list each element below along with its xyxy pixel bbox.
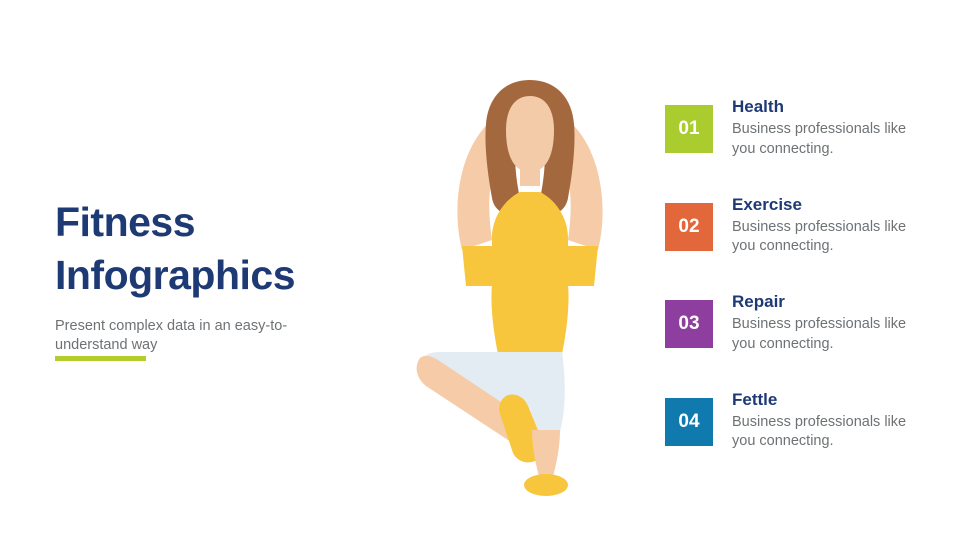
list-item-description: Business professionals like you connecti…: [732, 315, 932, 354]
list-item-title: Health: [732, 96, 932, 118]
face-shape: [506, 96, 554, 172]
list-item-text: Exercise Business professionals like you…: [732, 194, 932, 257]
page-title-line-2: Infographics: [55, 249, 355, 302]
list-item-description: Business professionals like you connecti…: [732, 413, 932, 452]
page-subtitle: Present complex data in an easy-to-under…: [55, 317, 313, 355]
list-item-number-badge: 04: [665, 398, 713, 446]
neck-shape: [520, 164, 540, 186]
list-item-text: Health Business professionals like you c…: [732, 96, 932, 159]
list-item-description: Business professionals like you connecti…: [732, 218, 932, 257]
top-shirt-shape: [491, 192, 568, 354]
yoga-figure-svg: [400, 40, 660, 510]
feature-list: 01 Health Business professionals like yo…: [665, 96, 955, 486]
page-title-line-1: Fitness: [55, 196, 355, 249]
list-item[interactable]: 01 Health Business professionals like yo…: [665, 96, 955, 194]
list-item-text: Fettle Business professionals like you c…: [732, 389, 932, 452]
left-sleeve-shape: [462, 246, 494, 286]
list-item-title: Exercise: [732, 194, 932, 216]
list-item-description: Business professionals like you connecti…: [732, 120, 932, 159]
list-item[interactable]: 02 Exercise Business professionals like …: [665, 194, 955, 292]
standing-foot-shoe-shape: [524, 474, 568, 496]
yoga-figure-illustration: [400, 40, 660, 510]
list-item-number-badge: 01: [665, 105, 713, 153]
right-sleeve-shape: [566, 246, 598, 286]
list-item-number-badge: 02: [665, 203, 713, 251]
infographic-slide: Fitness Infographics Present complex dat…: [0, 0, 980, 551]
list-item-text: Repair Business professionals like you c…: [732, 291, 932, 354]
list-item-title: Fettle: [732, 389, 932, 411]
list-item-number-badge: 03: [665, 300, 713, 348]
list-item[interactable]: 03 Repair Business professionals like yo…: [665, 291, 955, 389]
standing-leg-skin-shape: [532, 430, 560, 480]
list-item-title: Repair: [732, 291, 932, 313]
accent-underline: [55, 356, 146, 361]
list-item[interactable]: 04 Fettle Business professionals like yo…: [665, 389, 955, 487]
title-block: Fitness Infographics Present complex dat…: [55, 196, 355, 355]
